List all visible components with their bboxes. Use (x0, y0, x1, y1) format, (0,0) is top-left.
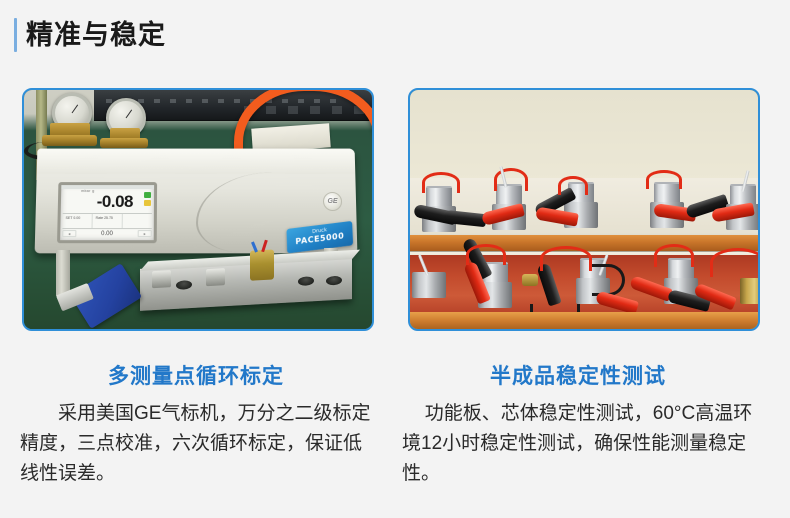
caption-body: 功能板、芯体稳定性测试，60°C高温环境12小时稳定性测试，确保性能测量稳定性。 (398, 399, 758, 489)
shelf-board-lower (408, 312, 760, 330)
photo-frame-calibration[interactable]: mbar g -0.08 SET 0.00 Rate 25.75 ◂ 0.00 (22, 88, 374, 331)
clip-brass-jaw (522, 274, 538, 286)
manifold-port-3 (326, 276, 342, 286)
manifold-port-2 (298, 276, 314, 286)
display-title-bar (61, 185, 154, 189)
calibration-manifold-block (140, 257, 352, 311)
display-aux-rate: Rate 25.75 (93, 214, 123, 228)
sensor-under-test (250, 249, 274, 280)
display-next-button[interactable]: ▸ (138, 230, 152, 237)
title-accent-bar (14, 18, 17, 52)
test-lead-wire-red (466, 244, 506, 265)
test-lead-wire-red (646, 170, 682, 189)
brass-manifold-1 (42, 135, 97, 146)
photo-calibration-bench: mbar g -0.08 SET 0.00 Rate 25.75 ◂ 0.00 (24, 90, 372, 329)
photo-panels-row: mbar g -0.08 SET 0.00 Rate 25.75 ◂ 0.00 (0, 88, 790, 331)
test-lead-wire-red (710, 248, 760, 277)
pace5000-instrument: mbar g -0.08 SET 0.00 Rate 25.75 ◂ 0.00 (35, 149, 358, 254)
panel-multi-point-calibration: mbar g -0.08 SET 0.00 Rate 25.75 ◂ 0.00 (22, 88, 374, 331)
instrument-leg-left (56, 250, 70, 296)
display-prev-button[interactable]: ◂ (62, 230, 76, 237)
caption-stability-test: 半成品稳定性测试 功能板、芯体稳定性测试，60°C高温环境12小时稳定性测试，确… (398, 360, 758, 489)
test-lead-wire-red (654, 244, 694, 267)
caption-heading: 半成品稳定性测试 (398, 360, 758, 390)
caption-heading: 多测量点循环标定 (16, 360, 376, 390)
page-title: 精准与稳定 (26, 18, 166, 52)
instrument-display-screen[interactable]: mbar g -0.08 SET 0.00 Rate 25.75 ◂ 0.00 (57, 182, 157, 243)
test-lead-wire-red (494, 168, 528, 191)
display-status-green-icon (144, 192, 151, 198)
panel-stability-test (408, 88, 760, 331)
caption-multi-point-calibration: 多测量点循环标定 采用美国GE气标机，万分之二级标定精度，三点校准，六次循环标定… (16, 360, 376, 489)
manifold-fitting-1 (152, 270, 171, 288)
sensor-base-icon (740, 278, 760, 304)
manifold-fitting-2 (206, 268, 225, 286)
test-lead-wire-black (592, 264, 625, 296)
sensor-base-icon (412, 272, 446, 298)
caption-body: 采用美国GE气标机，万分之二级标定精度，三点校准，六次循环标定，保证低线性误差。 (16, 399, 376, 489)
display-aux-row: SET 0.00 Rate 25.75 (62, 213, 152, 229)
photo-frame-stability[interactable] (408, 88, 760, 331)
display-secondary-value: 0.00 (76, 231, 137, 237)
test-lead-wire-red (540, 246, 592, 271)
ge-logo-icon: GE (323, 192, 342, 211)
blue-wrench-tool (70, 263, 142, 329)
display-aux-blank (123, 214, 152, 228)
brass-manifold-2 (100, 138, 148, 148)
section-title: 精准与稳定 (0, 14, 166, 56)
display-aux-setpoint: SET 0.00 (62, 214, 92, 228)
captions-row: 多测量点循环标定 采用美国GE气标机，万分之二级标定精度，三点校准，六次循环标定… (0, 360, 790, 489)
manifold-port-1 (176, 280, 192, 290)
photo-sensor-shelves (410, 90, 758, 329)
display-status-amber-icon (144, 200, 151, 206)
display-bottom-bar: ◂ 0.00 ▸ (62, 228, 152, 239)
test-lead-wire-red (422, 172, 460, 193)
test-lead-wire-red (558, 176, 588, 195)
display-pressure-value: -0.08 (61, 192, 133, 212)
